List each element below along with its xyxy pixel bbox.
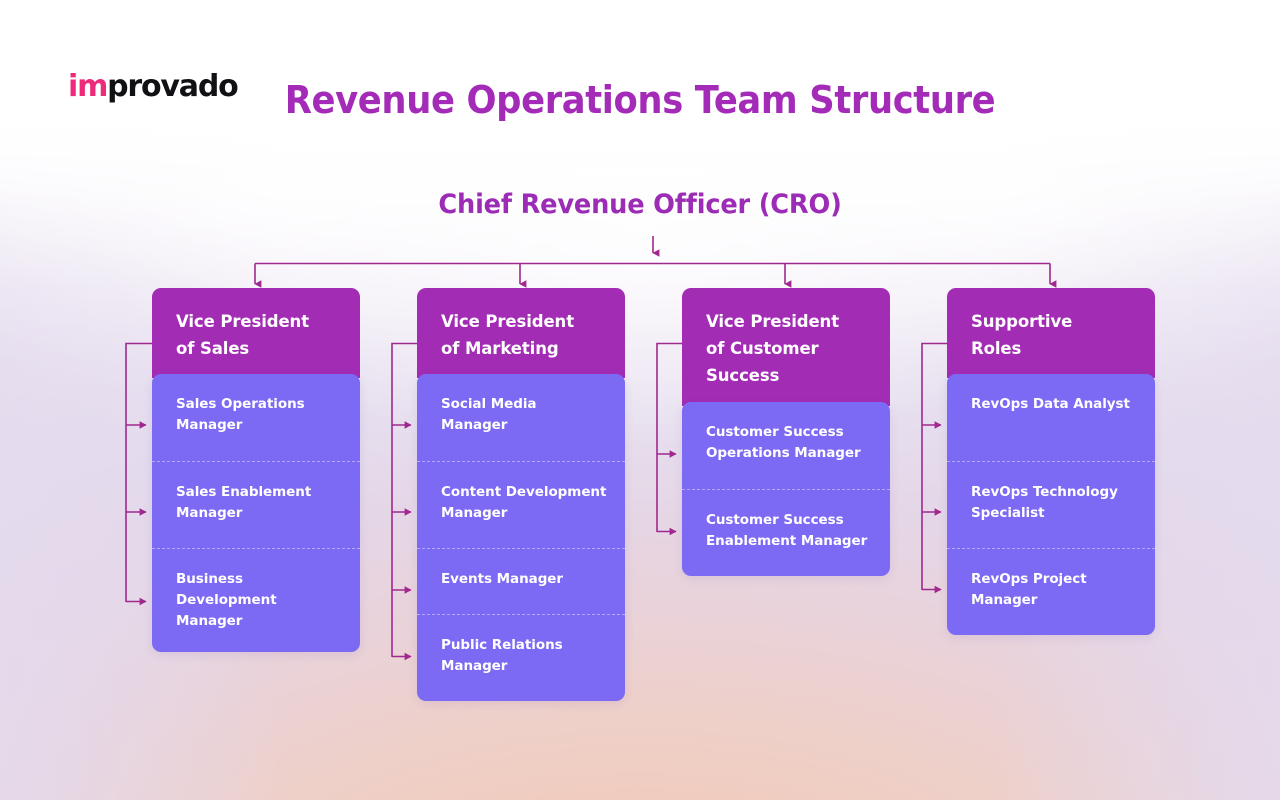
org-role-item[interactable]: RevOps Data Analyst — [947, 374, 1155, 461]
header-line: Vice President — [441, 308, 625, 335]
org-root-node-cro: Chief Revenue Officer (CRO) — [32, 189, 1248, 220]
header-line: of Customer — [706, 335, 890, 362]
org-role-item[interactable]: RevOps Technology Specialist — [947, 461, 1155, 548]
org-column-body-sales: Sales Operations Manager Sales Enablemen… — [152, 374, 360, 652]
org-column-body-supportive-roles: RevOps Data Analyst RevOps Technology Sp… — [947, 374, 1155, 635]
org-role-item[interactable]: Sales Enablement Manager — [152, 461, 360, 548]
org-role-item[interactable]: Customer Success Operations Manager — [682, 402, 890, 489]
header-line: Supportive — [971, 308, 1155, 335]
org-role-item[interactable]: RevOps Project Manager — [947, 548, 1155, 635]
header-line: Vice President — [706, 308, 890, 335]
header-line: Vice President — [176, 308, 360, 335]
org-role-item[interactable]: Events Manager — [417, 548, 625, 614]
org-column-header-sales: Vice President of Sales — [152, 288, 360, 378]
page-title: Revenue Operations Team Structure — [45, 80, 1235, 122]
header-line: Success — [706, 362, 890, 389]
org-column-sales[interactable]: Vice President of Sales Sales Operations… — [152, 288, 360, 652]
org-role-item[interactable]: Customer Success Enablement Manager — [682, 489, 890, 576]
org-column-customer-success[interactable]: Vice President of Customer Success Custo… — [682, 288, 890, 576]
org-role-item[interactable]: Sales Operations Manager — [152, 374, 360, 461]
org-column-body-customer-success: Customer Success Operations Manager Cust… — [682, 402, 890, 576]
org-column-marketing[interactable]: Vice President of Marketing Social Media… — [417, 288, 625, 701]
org-column-header-marketing: Vice President of Marketing — [417, 288, 625, 378]
header-line: of Sales — [176, 335, 360, 362]
header-line: Roles — [971, 335, 1155, 362]
org-column-supportive-roles[interactable]: Supportive Roles RevOps Data Analyst Rev… — [947, 288, 1155, 635]
org-column-header-supportive-roles: Supportive Roles — [947, 288, 1155, 378]
org-column-header-customer-success: Vice President of Customer Success — [682, 288, 890, 406]
org-column-body-marketing: Social Media Manager Content Development… — [417, 374, 625, 701]
org-role-item[interactable]: Business Development Manager — [152, 548, 360, 652]
org-role-item[interactable]: Content Development Manager — [417, 461, 625, 548]
org-role-item[interactable]: Social Media Manager — [417, 374, 625, 461]
org-role-item[interactable]: Public Relations Manager — [417, 614, 625, 701]
header-line: of Marketing — [441, 335, 625, 362]
